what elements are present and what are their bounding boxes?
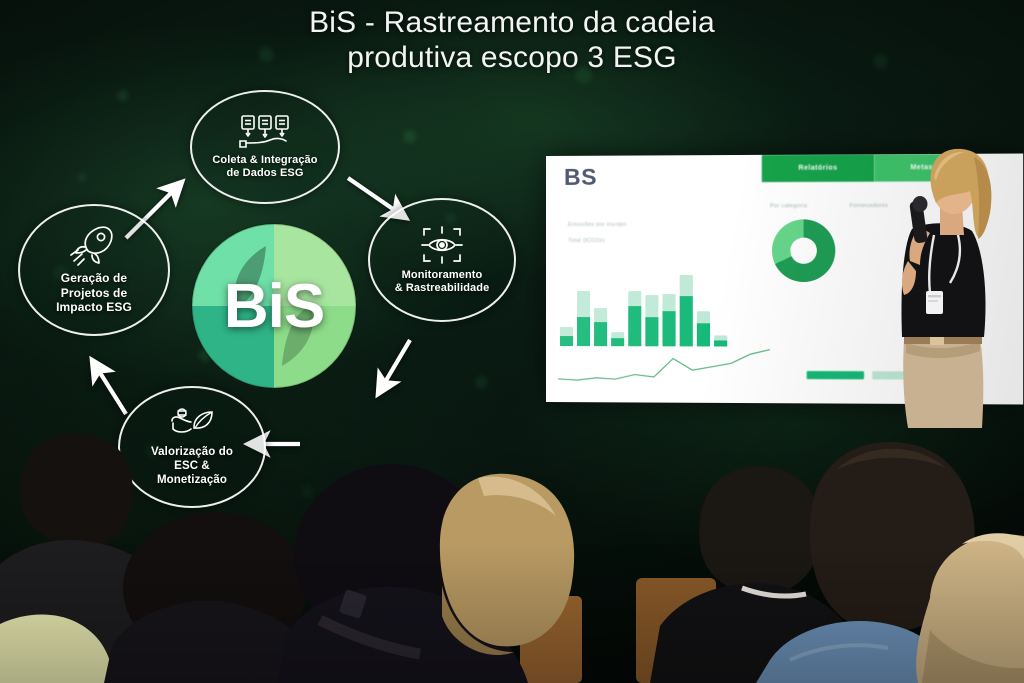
- cycle-node-coleta-label: Coleta & Integração de Dados ESG: [202, 154, 327, 181]
- chart-distribuicao-categoria: [772, 219, 835, 282]
- bis-logo-text: BiS: [186, 218, 362, 394]
- cycle-node-coleta[interactable]: Coleta & Integração de Dados ESG: [190, 90, 340, 204]
- chart-bar: [662, 294, 675, 346]
- chart-tendencia: [558, 342, 770, 389]
- chart-bar: [628, 291, 641, 347]
- cycle-node-valorizacao-label: Valorização do ESC & Monetização: [141, 445, 243, 487]
- slide-title-line1: BiS - Rastreamento da cadeia: [309, 6, 715, 39]
- cycle-node-monitoramento-label: Monitoramento & Rastreabilidade: [385, 269, 500, 296]
- cycle-node-geracao[interactable]: Geração de Projetos de Impacto ESG: [18, 204, 170, 336]
- rocket-icon: [68, 225, 120, 267]
- dashboard-chip-1: [807, 371, 864, 379]
- slide-title-line2: produtiva escopo 3 ESG: [0, 41, 1024, 76]
- presenter: [886, 143, 1024, 428]
- presentation-stage: BiS - Rastreamento da cadeia produtiva e…: [0, 0, 1024, 683]
- hand-leaf-coin-icon: [168, 407, 216, 441]
- arrow-monitoramento-to-valorizacao: [378, 340, 410, 394]
- chart-bar: [577, 291, 590, 347]
- cycle-node-monitoramento[interactable]: Monitoramento & Rastreabilidade: [368, 198, 516, 322]
- cycle-node-geracao-label: Geração de Projetos de Impacto ESG: [46, 271, 142, 315]
- dashboard-panel-label-1: Emissões por escopo: [568, 222, 626, 228]
- dashboard-panel-label-4: Fornecedores: [850, 203, 889, 209]
- cycle-node-valorizacao[interactable]: Valorização do ESC & Monetização: [118, 386, 266, 508]
- documents-to-hand-icon: [237, 114, 293, 150]
- slide-title: BiS - Rastreamento da cadeia produtiva e…: [0, 6, 1024, 76]
- esg-cycle-diagram: BiS Coleta & Integração de Dados ESG: [0, 78, 540, 508]
- chart-bar: [594, 308, 607, 346]
- eye-crosshair-icon: [420, 225, 464, 265]
- chart-bar: [697, 312, 710, 347]
- dashboard-tab-relatorios[interactable]: Relatórios: [762, 154, 874, 182]
- dashboard-logo: BS: [564, 164, 597, 191]
- chart-bar: [680, 275, 693, 347]
- bis-logo: BiS: [186, 218, 362, 394]
- chart-bar: [645, 295, 658, 346]
- dashboard-panel-label-2: Total (tCO2e): [568, 238, 605, 244]
- chart-emissoes-principais: [560, 268, 727, 347]
- dashboard-panel-label-3: Por categoria: [770, 203, 807, 209]
- arrow-valorizacao-to-geracao: [92, 360, 126, 414]
